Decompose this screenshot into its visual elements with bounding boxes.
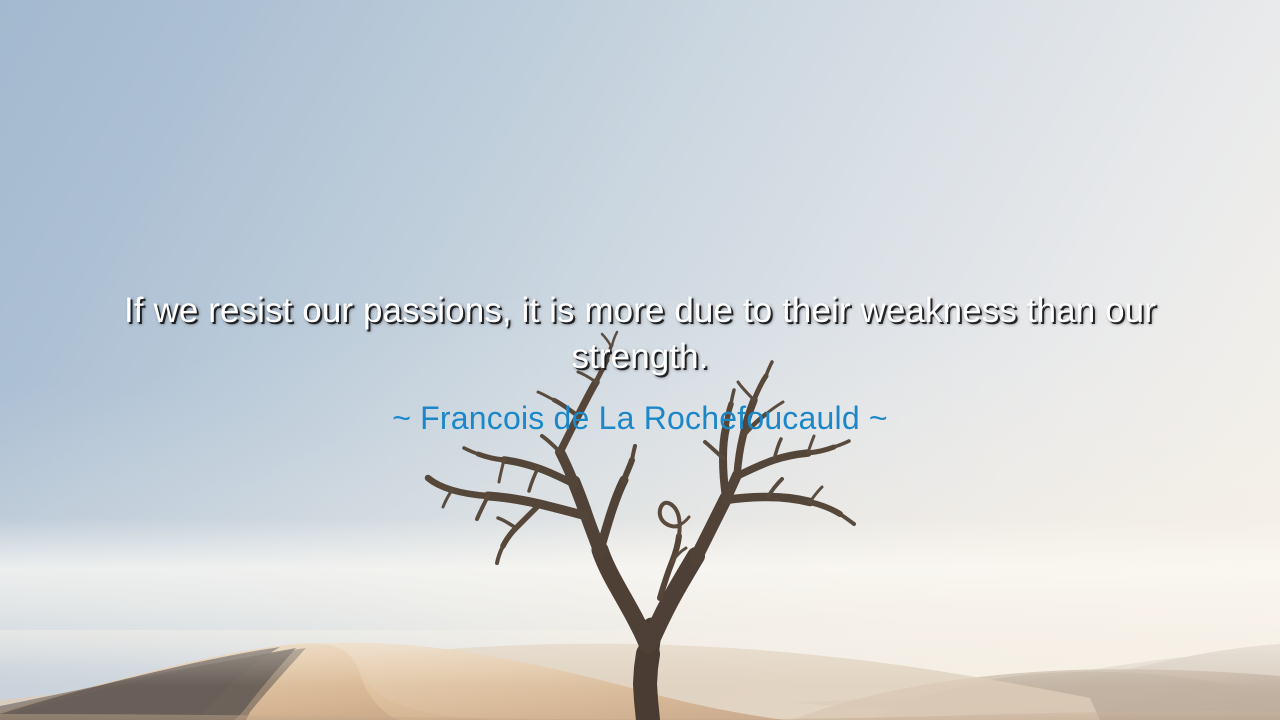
quote-attribution: ~ Francois de La Rochefoucauld ~ [56, 398, 1224, 438]
quote-line-1: If we resist our passions, it is more du… [124, 291, 1017, 330]
quote-wallpaper: If we resist our passions, it is more du… [0, 0, 1280, 720]
quote-text: If we resist our passions, it is more du… [56, 288, 1224, 380]
quote-overlay: If we resist our passions, it is more du… [0, 288, 1280, 438]
